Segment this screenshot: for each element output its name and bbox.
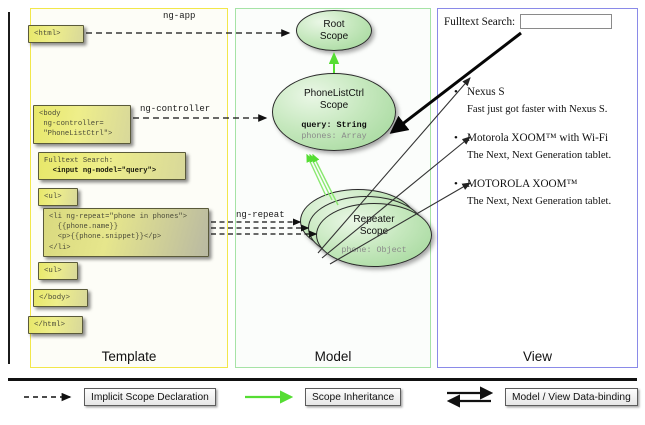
legend-label: Scope Inheritance (305, 388, 401, 406)
legend-separator (8, 378, 637, 381)
legend: Implicit Scope Declaration Scope Inherit… (0, 386, 645, 416)
legend-item-scope-inheritance: Scope Inheritance (243, 386, 401, 408)
edge-binding-query (392, 33, 521, 132)
edge-label-ng-app: ng-app (163, 11, 195, 21)
edge-scope-inheritance-repeater (313, 155, 338, 205)
edge-label-ng-controller: ng-controller (140, 104, 210, 114)
edge-binding-phone (322, 137, 470, 258)
double-arrow-icon (443, 386, 501, 408)
edge-scope-inheritance-repeater (310, 155, 332, 200)
legend-label: Implicit Scope Declaration (84, 388, 216, 406)
green-arrow-icon (243, 386, 301, 408)
edge-binding-phone (330, 183, 470, 264)
connector-overlay (0, 0, 645, 425)
legend-item-model-view-data-binding: Model / View Data-binding (443, 386, 638, 408)
diagram-canvas: Template Model View <html> <body ng-cont… (0, 0, 645, 425)
dashed-arrow-icon (22, 386, 80, 408)
legend-item-implicit-scope-declaration: Implicit Scope Declaration (22, 386, 216, 408)
edge-label-ng-repeat: ng-repeat (236, 210, 285, 220)
legend-label: Model / View Data-binding (505, 388, 638, 406)
